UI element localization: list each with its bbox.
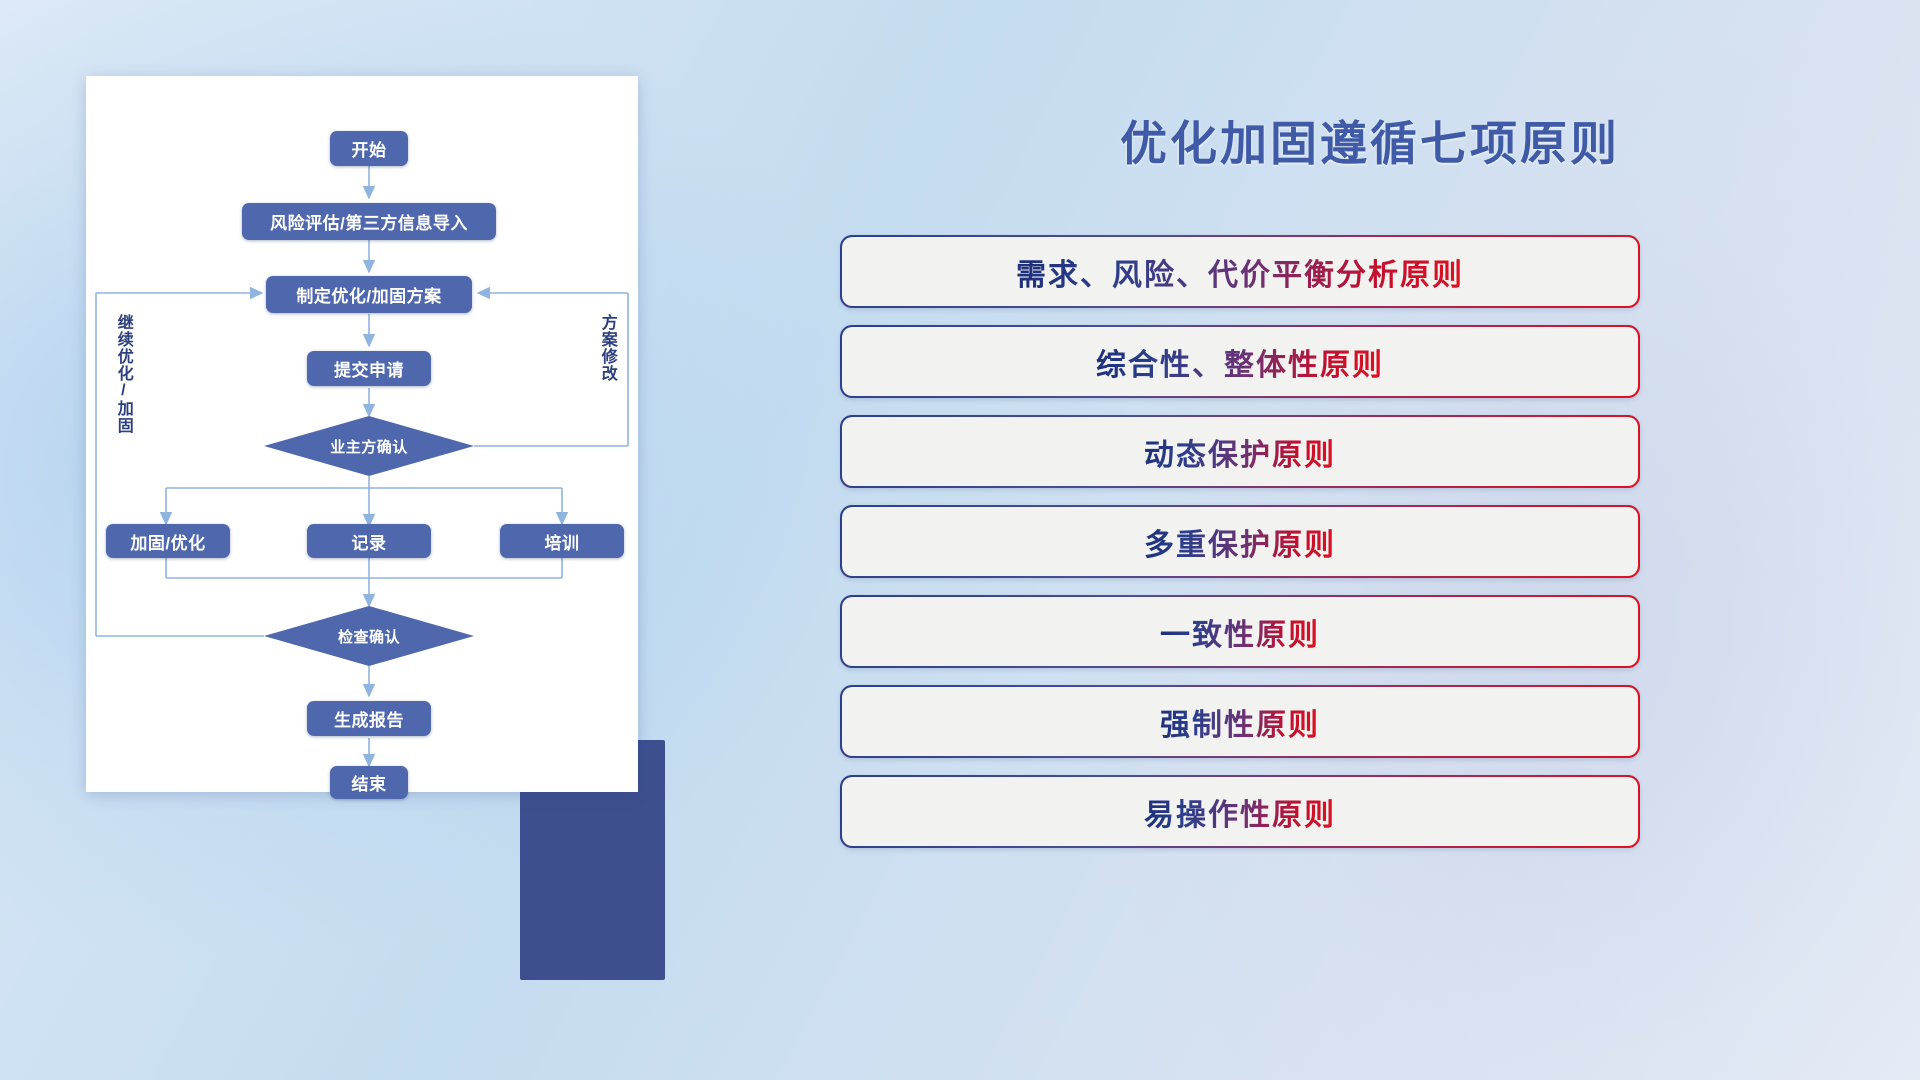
flow-node-label: 业主方确认	[330, 436, 408, 457]
flow-node-label: 风险评估/第三方信息导入	[270, 209, 468, 234]
edge-label-continue-optimize: 继续优化/加固	[114, 314, 131, 444]
principle-card[interactable]: 一致性原则	[840, 595, 1640, 668]
principle-label: 综合性、整体性原则	[1096, 340, 1384, 384]
principle-label: 需求、风险、代价平衡分析原则	[1016, 250, 1464, 294]
flow-node-owner-confirm[interactable]: 业主方确认	[264, 416, 474, 476]
principle-label: 强制性原则	[1160, 700, 1320, 744]
principle-card[interactable]: 动态保护原则	[840, 415, 1640, 488]
principle-card[interactable]: 综合性、整体性原则	[840, 325, 1640, 398]
principle-label: 易操作性原则	[1144, 790, 1336, 834]
flow-node-record[interactable]: 记录	[307, 524, 431, 558]
flow-node-label: 开始	[352, 136, 387, 161]
flow-node-training[interactable]: 培训	[500, 524, 624, 558]
flow-node-label: 生成报告	[334, 706, 404, 731]
flowchart-panel: 开始 风险评估/第三方信息导入 制定优化/加固方案 提交申请 业主方确认 加固/…	[0, 0, 820, 1080]
flow-node-risk-assessment[interactable]: 风险评估/第三方信息导入	[242, 203, 496, 240]
principle-label: 一致性原则	[1160, 610, 1320, 654]
flow-node-label: 培训	[545, 529, 580, 554]
flow-node-end[interactable]: 结束	[330, 766, 408, 799]
flow-node-label: 提交申请	[334, 356, 404, 381]
principles-list: 需求、风险、代价平衡分析原则 综合性、整体性原则 动态保护原则 多重保护原则 一…	[840, 235, 1640, 865]
principle-card[interactable]: 强制性原则	[840, 685, 1640, 758]
principle-label: 多重保护原则	[1144, 520, 1336, 564]
flow-node-start[interactable]: 开始	[330, 131, 408, 166]
flow-node-label: 检查确认	[338, 626, 400, 647]
principle-label: 动态保护原则	[1144, 430, 1336, 474]
principle-card[interactable]: 多重保护原则	[840, 505, 1640, 578]
flow-node-label: 加固/优化	[130, 529, 205, 554]
flowchart-card: 开始 风险评估/第三方信息导入 制定优化/加固方案 提交申请 业主方确认 加固/…	[86, 76, 638, 792]
page-title: 优化加固遵循七项原则	[820, 105, 1920, 174]
flow-node-reinforce-optimize[interactable]: 加固/优化	[106, 524, 230, 558]
flow-node-label: 结束	[352, 770, 387, 795]
edge-label-plan-revision: 方案修改	[598, 314, 615, 409]
flow-node-generate-report[interactable]: 生成报告	[307, 701, 431, 736]
principles-panel: 优化加固遵循七项原则 需求、风险、代价平衡分析原则 综合性、整体性原则 动态保护…	[820, 0, 1920, 1080]
flow-node-submit-application[interactable]: 提交申请	[307, 351, 431, 386]
principle-card[interactable]: 易操作性原则	[840, 775, 1640, 848]
flow-node-label: 制定优化/加固方案	[296, 282, 441, 307]
flow-node-make-plan[interactable]: 制定优化/加固方案	[266, 276, 472, 313]
flow-node-label: 记录	[352, 529, 387, 554]
flow-node-check-confirm[interactable]: 检查确认	[264, 606, 474, 666]
principle-card[interactable]: 需求、风险、代价平衡分析原则	[840, 235, 1640, 308]
